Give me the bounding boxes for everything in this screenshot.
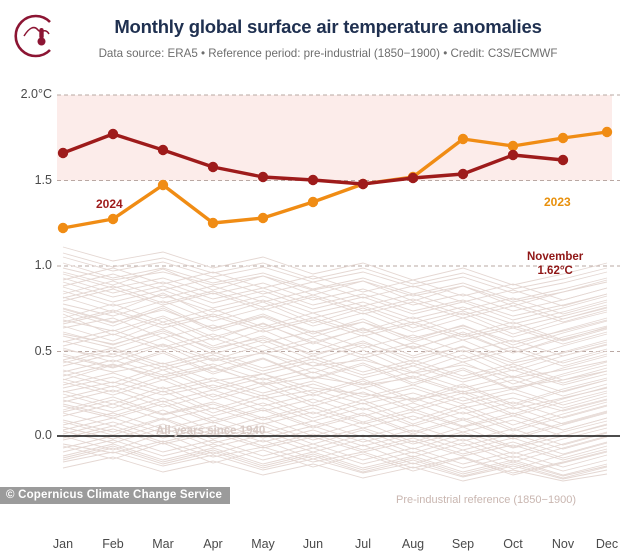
highlight-band [57,95,612,181]
x-tick-jan: Jan [40,537,86,551]
x-tick-mar: Mar [140,537,186,551]
y-tick-0_5: 0.5 [8,344,52,358]
november-callout: November 1.62°C [527,250,583,278]
x-tick-nov: Nov [540,537,586,551]
y-tick-0: 0.0 [8,428,52,442]
november-callout-value: 1.62°C [527,264,583,278]
november-callout-month: November [527,250,583,264]
y-tick-1: 1.0 [8,258,52,272]
x-tick-jul: Jul [340,537,386,551]
background-series-lines [63,247,607,481]
y-tick-2: 2.0°C [8,87,52,101]
x-tick-feb: Feb [90,537,136,551]
chart-plot-area: 2.0°C 1.5 1.0 0.5 0.0 2024 2023 November… [0,82,634,482]
chart-header: Monthly global surface air temperature a… [0,0,634,82]
page-title: Monthly global surface air temperature a… [68,16,588,38]
x-tick-oct: Oct [490,537,536,551]
x-axis-ticks: Jan Feb Mar Apr May Jun Jul Aug Sep Oct … [0,537,634,559]
x-tick-dec: Dec [584,537,630,551]
x-tick-jun: Jun [290,537,336,551]
x-tick-apr: Apr [190,537,236,551]
chart-svg [0,82,634,482]
x-tick-may: May [240,537,286,551]
copyright-footer: © Copernicus Climate Change Service [0,487,230,504]
background-series-label: All years since 1940 [156,425,265,437]
x-tick-sep: Sep [440,537,486,551]
baseline-label: Pre-industrial reference (1850−1900) [396,494,576,506]
y-tick-1_5: 1.5 [8,173,52,187]
y-axis-ticks: 2.0°C 1.5 1.0 0.5 0.0 [0,82,52,482]
series-label-2024: 2024 [96,197,123,211]
copernicus-thermometer-logo [8,12,60,60]
chart-subtitle: Data source: ERA5 • Reference period: pr… [68,47,588,60]
x-tick-aug: Aug [390,537,436,551]
series-label-2023: 2023 [544,195,571,209]
